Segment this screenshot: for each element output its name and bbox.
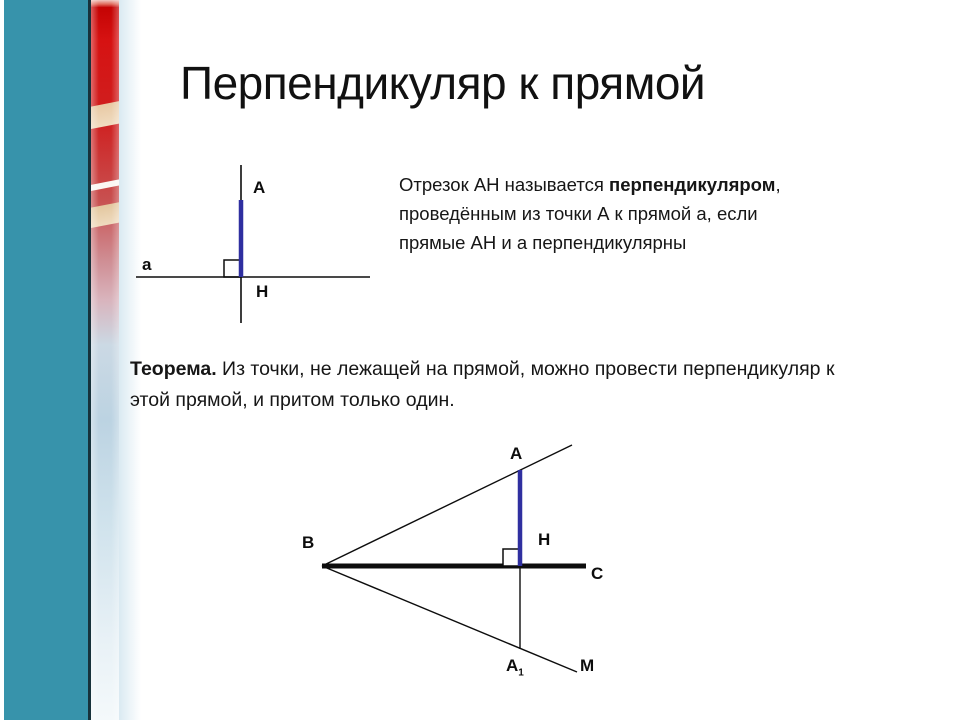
fig2-label-point-h: Н [538, 530, 550, 550]
fig2-label-point-a1-sub: 1 [518, 667, 524, 678]
fig2-label-point-a1-letter: А [506, 656, 518, 675]
slide-canvas: Перпендикуляр к прямой а А Н Отрезок АН … [0, 0, 960, 720]
theorem-paragraph: Теорема. Из точки, не лежащей на прямой,… [130, 354, 850, 416]
definition-text-part1: Отрезок АН называется [399, 174, 609, 195]
fig1-label-line-a: а [142, 255, 151, 275]
figure-perpendicular-basic: а А Н [120, 160, 400, 340]
fig1-right-angle-icon [224, 260, 241, 277]
theorem-label: Теорема. [130, 358, 217, 380]
definition-bold-term: перпендикуляром [609, 174, 775, 195]
theorem-text: Из точки, не лежащей на прямой, можно пр… [130, 358, 834, 411]
fig2-ray-lower [322, 566, 577, 672]
page-title: Перпендикуляр к прямой [180, 53, 920, 113]
decorative-red-ribbon [91, 0, 119, 720]
fig1-label-point-h: Н [256, 282, 268, 302]
figure-unique-perpendicular: А В Н С А1 М [280, 430, 680, 715]
fig2-label-point-c: С [591, 564, 603, 584]
fig2-label-point-b: В [302, 533, 314, 553]
definition-paragraph: Отрезок АН называется перпендикуляром, п… [399, 170, 819, 257]
fig2-label-point-a: А [510, 444, 522, 464]
teal-sidebar-band [4, 0, 88, 720]
fig1-label-point-a: А [253, 178, 265, 198]
fig2-ray-upper [322, 445, 572, 566]
fig2-right-angle-icon [503, 549, 520, 566]
fig2-label-point-a1: А1 [506, 656, 524, 678]
fig2-label-point-m: М [580, 656, 594, 676]
ribbon-highlight [91, 0, 119, 720]
